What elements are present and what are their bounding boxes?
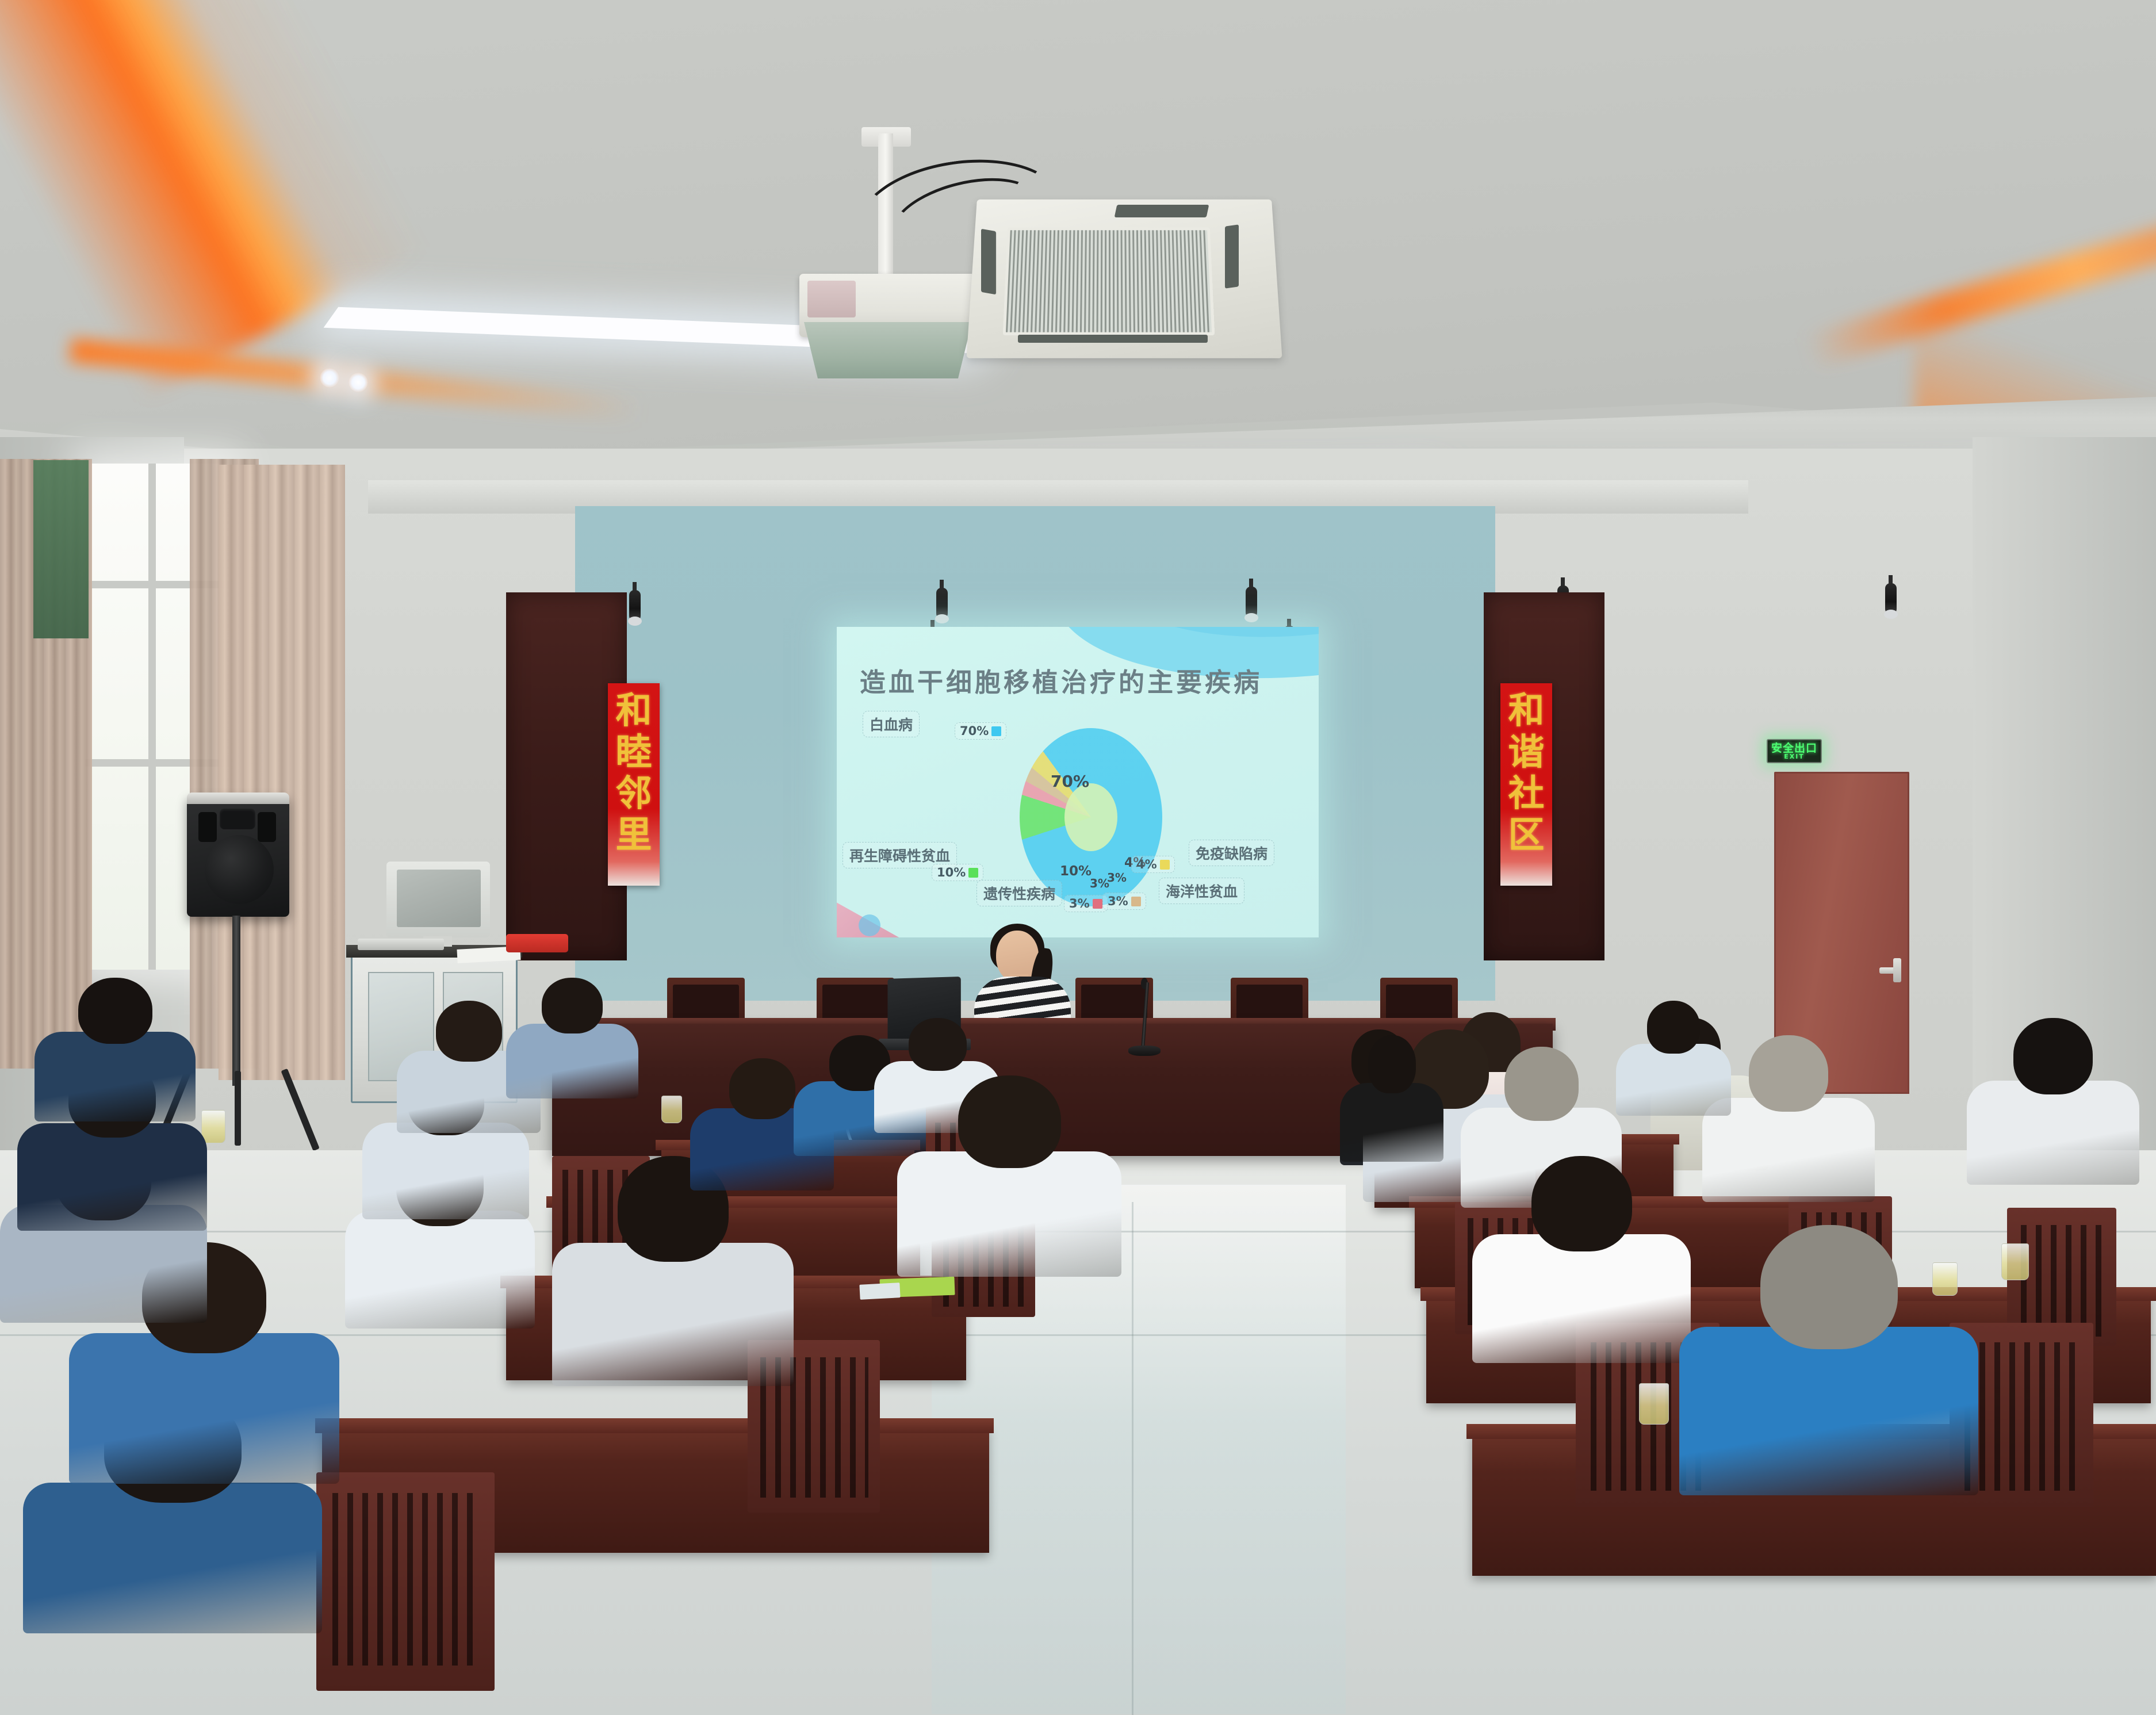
pa-speaker-woofer xyxy=(205,835,274,904)
spotlight-3 xyxy=(1246,587,1257,618)
ac-vent-left xyxy=(981,229,996,295)
pa-speaker-port-left xyxy=(198,812,217,842)
pa-speaker-port-right xyxy=(258,812,276,842)
banner-left-char-2: 睦 xyxy=(616,734,652,770)
projector-lens xyxy=(807,281,856,317)
percent-thalassemia-value: 3% xyxy=(1108,894,1128,908)
crt-monitor-screen xyxy=(397,870,481,927)
percent-leukemia: 70% xyxy=(955,722,1006,740)
list-item xyxy=(897,1075,1121,1277)
door-lock-plate xyxy=(1893,958,1901,982)
person-head xyxy=(1749,1035,1828,1112)
person-body xyxy=(1679,1327,1978,1495)
swatch-aplastic-anemia xyxy=(968,868,978,878)
downlight-2 xyxy=(349,373,368,392)
curtain-green-panel xyxy=(33,460,89,638)
percent-aplastic-anemia: 10% xyxy=(932,864,983,881)
banner-right-char-1: 和 xyxy=(1508,692,1545,729)
percent-immunodeficiency: 4% xyxy=(1131,856,1175,873)
swatch-leukemia xyxy=(991,726,1001,736)
projector-underside xyxy=(804,322,972,378)
person-body xyxy=(897,1151,1121,1277)
list-item xyxy=(506,978,638,1098)
donut-hole xyxy=(1064,783,1117,851)
exit-sign-english: EXIT xyxy=(1784,753,1805,760)
pie-label-3b: 3% xyxy=(1107,871,1127,885)
spotlight-1 xyxy=(629,590,641,621)
air-conditioner-grille xyxy=(1003,228,1215,335)
floor-tile-line-v xyxy=(1132,1202,1133,1715)
pa-speaker-horn xyxy=(220,809,255,829)
paper-item xyxy=(859,1283,900,1300)
window-mullion-vertical xyxy=(148,464,156,970)
banner-right-char-3: 社 xyxy=(1508,775,1545,811)
person-head xyxy=(78,978,152,1044)
list-item xyxy=(1472,1156,1691,1363)
projection-screen: 造血干细胞移植治疗的主要疾病 70% 10% 3% 3% 4% 白血病 70% … xyxy=(837,627,1319,937)
pa-speaker-top xyxy=(187,793,289,804)
person-head xyxy=(436,1001,502,1062)
drink-cup xyxy=(2001,1243,2029,1280)
chair-slats xyxy=(1964,1342,2081,1491)
percent-hereditary-disease-value: 3% xyxy=(1069,897,1090,910)
downlight-1 xyxy=(320,368,339,388)
keyboard[interactable] xyxy=(358,939,444,950)
person-head xyxy=(909,1018,967,1071)
slide-title: 造血干细胞移植治疗的主要疾病 xyxy=(860,661,1297,699)
callout-immunodeficiency: 免疫缺陷病 xyxy=(1189,840,1274,866)
person-body xyxy=(69,1333,339,1484)
person-head xyxy=(958,1075,1061,1168)
person-head xyxy=(729,1058,795,1119)
drink-cup xyxy=(661,1096,682,1123)
banner-left-char-3: 邻 xyxy=(616,775,652,811)
callout-hereditary-disease: 遗传性疾病 xyxy=(976,880,1062,906)
person-head xyxy=(1760,1225,1898,1349)
percent-thalassemia: 3% xyxy=(1102,893,1146,910)
pie-label-70: 70% xyxy=(1051,772,1089,791)
banner-left: 和 睦 邻 里 xyxy=(608,683,660,886)
speaker-stand-pole xyxy=(232,916,240,1086)
swatch-thalassemia xyxy=(1131,897,1141,906)
list-item xyxy=(552,1156,794,1386)
pie-label-10: 10% xyxy=(1060,864,1092,879)
person-head xyxy=(2013,1018,2093,1094)
ac-vent-bottom xyxy=(1018,335,1208,343)
exit-sign: 安全出口 EXIT xyxy=(1767,739,1822,763)
red-box-on-cabinet xyxy=(506,934,568,952)
percent-immunodeficiency-value: 4% xyxy=(1136,857,1157,871)
list-item xyxy=(1616,1001,1731,1116)
person-head xyxy=(1504,1047,1579,1121)
list-item xyxy=(1967,1018,2139,1185)
banner-left-char-1: 和 xyxy=(616,692,652,729)
ac-vent-right xyxy=(1225,224,1239,288)
tripod-leg-3 xyxy=(235,1071,241,1146)
banner-right-char-2: 谐 xyxy=(1508,734,1545,770)
slide-corner-dot xyxy=(859,914,880,936)
banner-left-char-4: 里 xyxy=(616,817,652,853)
person-body xyxy=(35,1032,196,1121)
banner-right-char-4: 区 xyxy=(1508,817,1545,853)
banner-right: 和 谐 社 区 xyxy=(1500,683,1552,886)
percent-leukemia-value: 70% xyxy=(960,724,989,738)
spotlight-2 xyxy=(936,588,948,619)
desk-top xyxy=(315,1418,994,1433)
person-head xyxy=(1531,1156,1632,1251)
list-item xyxy=(1340,1035,1443,1162)
percent-aplastic-anemia-value: 10% xyxy=(937,866,966,879)
list-item xyxy=(35,978,196,1121)
person-body xyxy=(1472,1234,1691,1363)
person-head xyxy=(542,978,603,1033)
list-item xyxy=(1679,1225,1978,1495)
ac-vent-top xyxy=(1115,205,1209,217)
percent-hereditary-disease: 3% xyxy=(1064,895,1108,912)
callout-leukemia: 白血病 xyxy=(863,711,920,737)
person-head xyxy=(1647,1001,1700,1054)
person-head xyxy=(1368,1035,1416,1093)
person-body xyxy=(552,1243,794,1386)
exit-sign-chinese: 安全出口 xyxy=(1771,743,1817,753)
person-body xyxy=(17,1123,207,1231)
pie-label-3a: 3% xyxy=(1090,876,1109,890)
chair-slats xyxy=(332,1493,480,1666)
chair-slats xyxy=(2021,1225,2108,1337)
person-body xyxy=(506,1024,638,1098)
person-body xyxy=(1616,1044,1731,1116)
person-body xyxy=(23,1483,322,1633)
microphone-base xyxy=(1128,1046,1161,1056)
callout-thalassemia: 海洋性贫血 xyxy=(1159,878,1244,904)
person-body xyxy=(1967,1081,2139,1185)
spotlight-5 xyxy=(1885,583,1897,614)
swatch-hereditary-disease xyxy=(1093,899,1102,909)
person-body xyxy=(1340,1083,1443,1162)
swatch-immunodeficiency xyxy=(1160,860,1170,870)
person-body xyxy=(345,1211,535,1329)
person-body xyxy=(362,1123,529,1219)
conference-room-photo: 和 睦 邻 里 和 谐 社 区 造血干细胞移植治疗的主要疾病 70% 10% 3… xyxy=(0,0,2156,1715)
drink-cup xyxy=(1639,1383,1669,1425)
